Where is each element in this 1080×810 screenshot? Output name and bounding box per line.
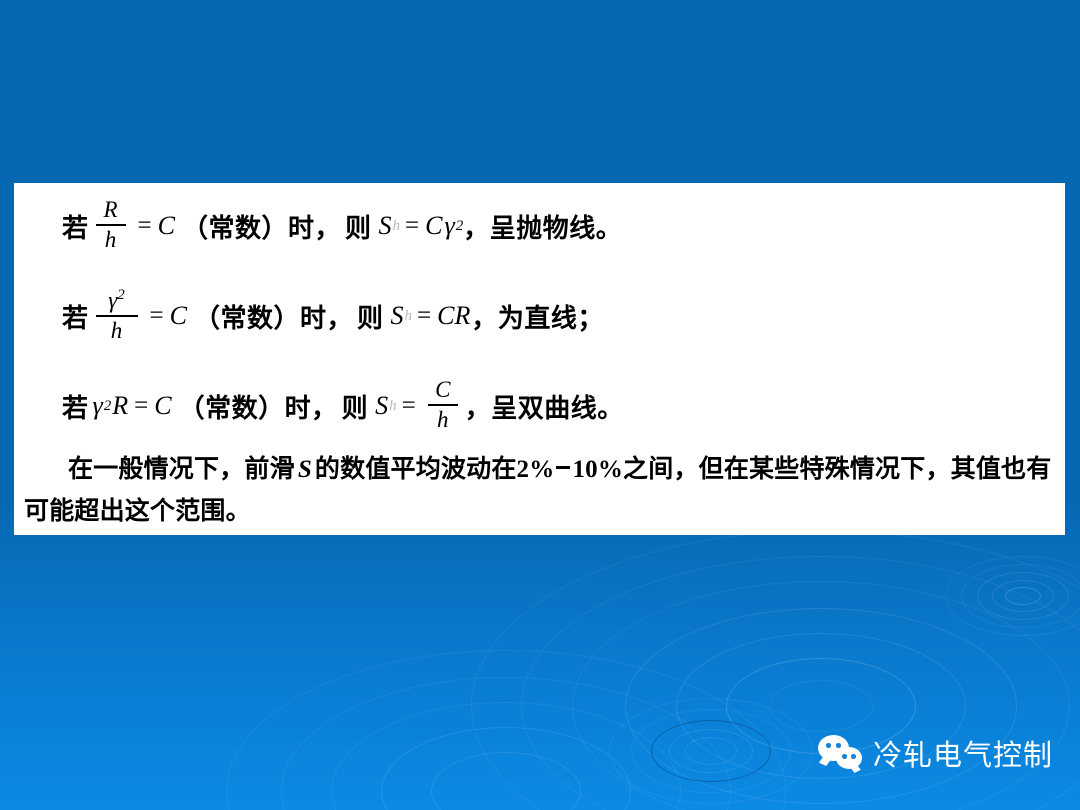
formula-1-then: 则 xyxy=(345,208,372,245)
formula-3-result-subscript: h xyxy=(389,398,397,415)
formula-2-lead: 若 xyxy=(62,298,89,335)
slide-canvas: 若 R h = C （常数）时， 则 Sh = C γ2 ， 呈抛物线。 若 γ… xyxy=(0,0,1080,810)
formula-3-then: 则 xyxy=(342,388,369,425)
formula-1-equals: = xyxy=(133,212,157,240)
formula-1-equals-2: = xyxy=(400,212,424,240)
body-paragraph: 在一般情况下，前滑S的数值平均波动在2%10%之间，但在某些特殊情况下，其值也有… xyxy=(24,449,1059,533)
formula-3-comma: ， xyxy=(465,388,492,425)
formula-3-r: R xyxy=(111,391,129,421)
wechat-eye xyxy=(836,743,841,748)
wechat-eye xyxy=(826,743,831,748)
formula-1-condition: （常数）时， xyxy=(182,208,341,245)
formula-2-numerator-base: γ xyxy=(108,288,117,313)
formula-3-equals: = xyxy=(129,392,153,420)
formula-1-result-exponent: 2 xyxy=(456,218,464,235)
content-panel: 若 R h = C （常数）时， 则 Sh = C γ2 ， 呈抛物线。 若 γ… xyxy=(14,183,1065,535)
formula-2-denominator: h xyxy=(107,319,127,343)
formula-3-lead: 若 xyxy=(62,388,89,425)
wechat-eye xyxy=(851,754,856,759)
formula-line-2: 若 γ2 h = C （常数）时， 则 Sh = CR ， 为直线； xyxy=(62,289,604,344)
formula-2-equals-2: = xyxy=(412,302,436,330)
formula-3-result-symbol: S xyxy=(374,391,389,421)
formula-2-constant: C xyxy=(169,301,188,331)
formula-3-numerator: C xyxy=(431,378,454,402)
formula-1-denominator: h xyxy=(101,228,121,252)
paragraph-variable: S xyxy=(295,456,315,483)
fraction-bar xyxy=(96,315,138,317)
formula-1-comma: ， xyxy=(463,208,490,245)
formula-1-numerator: R xyxy=(99,198,121,222)
formula-1-result-subscript: h xyxy=(393,218,401,235)
formula-2-fraction: γ2 h xyxy=(96,288,138,343)
formula-2-result-expr: CR xyxy=(436,301,471,331)
formula-2-conclusion: 为直线； xyxy=(498,298,604,335)
formula-1-lead: 若 xyxy=(62,208,89,245)
paragraph-part-1: 在一般情况下，前滑 xyxy=(68,456,295,483)
formula-2-result-subscript: h xyxy=(405,308,413,325)
formula-3-condition: （常数）时， xyxy=(179,388,338,425)
watermark: 冷轧电气控制 xyxy=(818,732,1053,774)
wechat-bubble-small xyxy=(836,747,862,769)
paragraph-value-high: 10% xyxy=(572,456,623,483)
paragraph-part-2: 的数值平均波动在 xyxy=(315,456,517,483)
formula-3-conclusion: 呈双曲线。 xyxy=(491,388,624,425)
formula-2-comma: ， xyxy=(471,298,498,335)
wechat-eye xyxy=(842,754,847,759)
formula-1-conclusion: 呈抛物线。 xyxy=(490,208,623,245)
fraction-bar xyxy=(96,224,126,226)
formula-1-constant: C xyxy=(157,211,176,241)
formula-1-result-symbol: S xyxy=(378,211,393,241)
formula-1-result-gamma: γ xyxy=(443,211,455,241)
formula-1-result-c: C xyxy=(424,211,443,241)
formula-line-3: 若 γ2 R = C （常数）时， 则 Sh = C h ， 呈双曲线。 xyxy=(62,379,624,433)
formula-2-numerator-exponent: 2 xyxy=(117,287,125,303)
formula-3-exponent: 2 xyxy=(104,398,112,415)
formula-2-then: 则 xyxy=(357,298,384,335)
formula-3-equals-2: = xyxy=(397,392,421,420)
paragraph-value-low: 2% xyxy=(517,456,555,483)
watermark-label: 冷轧电气控制 xyxy=(873,732,1053,774)
formula-3-gamma: γ xyxy=(92,391,104,421)
formula-3-fraction: C h xyxy=(428,378,458,432)
wechat-logo-icon xyxy=(818,734,864,772)
formula-2-numerator: γ2 xyxy=(104,288,129,313)
formula-3-constant: C xyxy=(153,391,172,421)
formula-line-1: 若 R h = C （常数）时， 则 Sh = C γ2 ， 呈抛物线。 xyxy=(62,199,622,253)
formula-2-result-symbol: S xyxy=(390,301,405,331)
formula-1-fraction: R h xyxy=(96,198,126,252)
fraction-bar xyxy=(428,404,458,406)
formula-2-condition: （常数）时， xyxy=(194,298,353,335)
formula-2-equals: = xyxy=(145,302,169,330)
formula-3-denominator: h xyxy=(433,408,453,432)
